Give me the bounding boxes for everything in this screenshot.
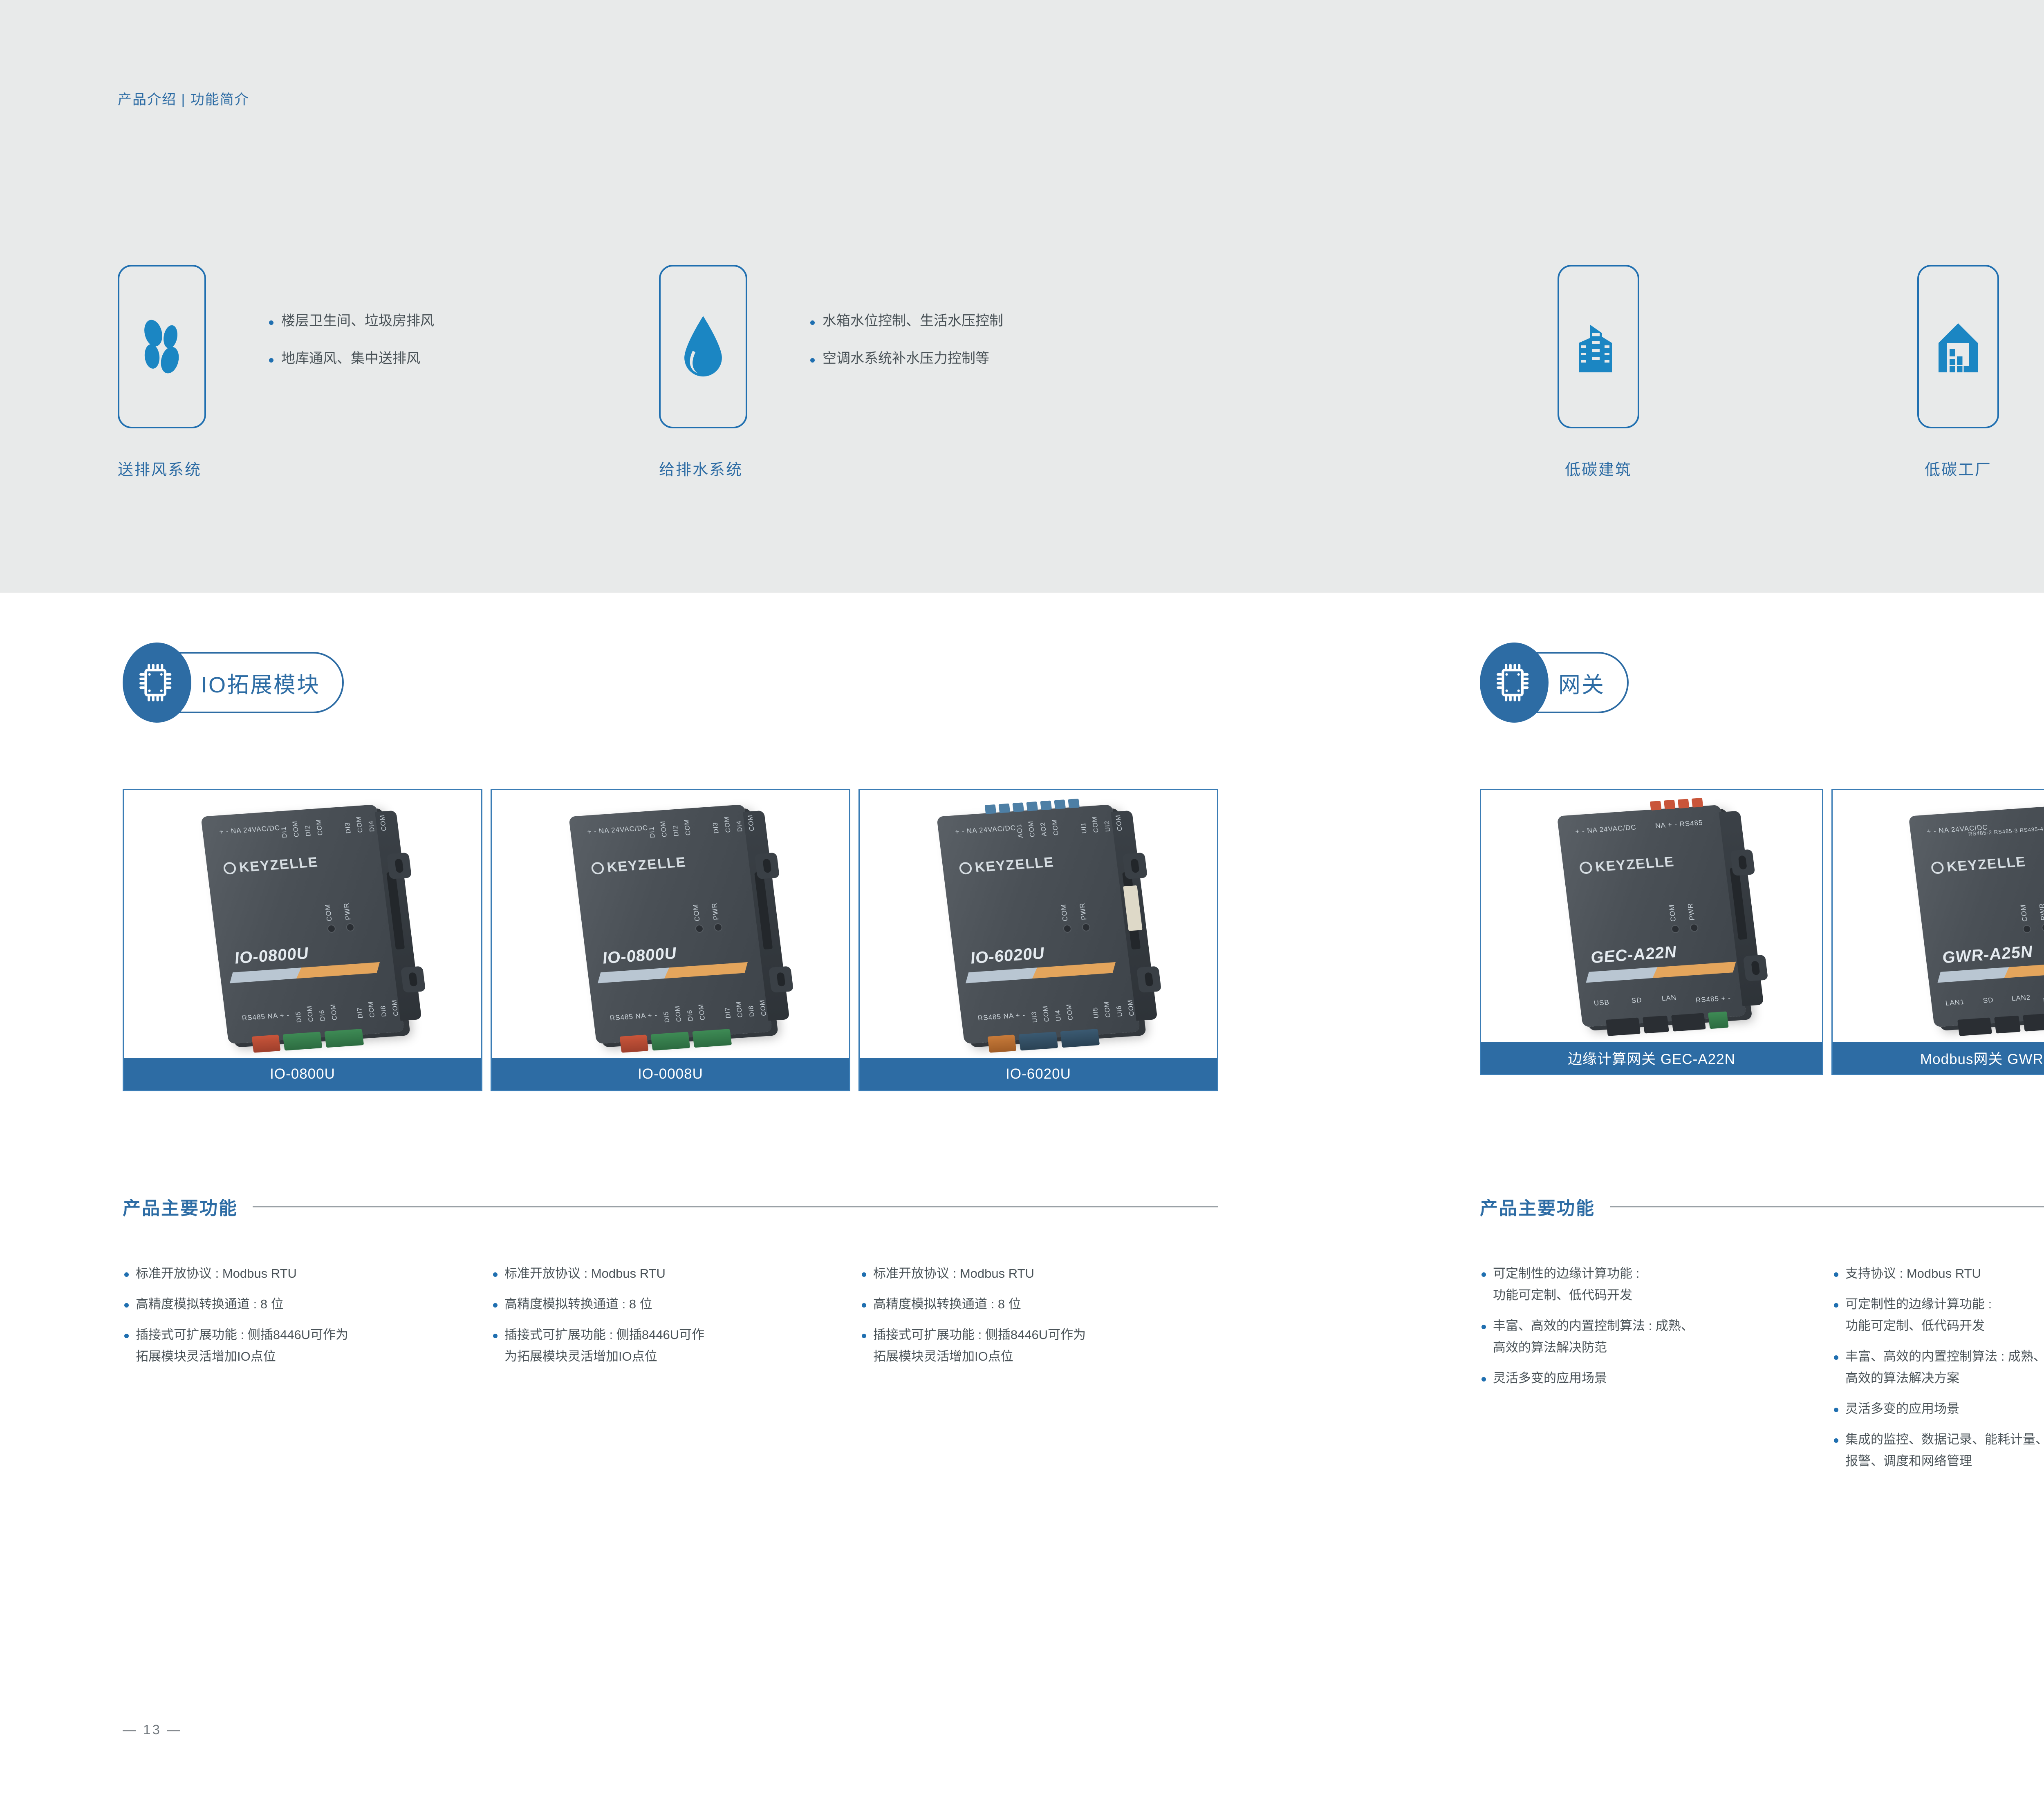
feature-column: 标准开放协议 : Modbus RTU 高精度模拟转换通道 : 8 位 插接式可… [123, 1267, 482, 1381]
port-label-sd: SD [1631, 994, 1643, 1005]
list-item: 地库通风、集中送排风 [267, 352, 434, 365]
list-item: 集成的监控、数据记录、能耗计量、报警、调度和网络管理 [1832, 1433, 2044, 1467]
fan-bullet-list: 楼层卫生间、垃圾房排风 地库通风、集中送排风 [251, 271, 434, 389]
list-item: 高精度模拟转换通道 : 8 位 [860, 1298, 1220, 1310]
list-item: 支持协议 : Modbus RTU [1832, 1267, 2044, 1280]
section-badge-io-modules: IO拓展模块 [123, 642, 344, 723]
fan-icon [131, 314, 193, 379]
page-number-left: — 13 — [123, 1722, 182, 1738]
water-bullet-list: 水箱水位控制、生活水压控制 空调水系统补水压力控制等 [792, 271, 1003, 389]
factory-icon [1932, 316, 1984, 377]
fan-icon-box [118, 265, 206, 428]
list-item: 空调水系统补水压力控制等 [809, 352, 1003, 365]
product-caption: IO-6020U [860, 1058, 1217, 1090]
product-image: KEYZELLE + - NA 24VAC/DC AO1COMAO2COM UI… [860, 790, 1217, 1058]
product-image: KEYZELLE + - NA 24VAC/DC DI1COMDI2COM DI… [124, 790, 481, 1058]
application-factory: 低碳工厂 [1917, 265, 1999, 428]
features-title: 产品主要功能 [123, 1193, 238, 1220]
list-item: 水箱水位控制、生活水压控制 [809, 314, 1003, 328]
list-item: 插接式可扩展功能 : 侧插8446U可作为拓展模块灵活增加IO点位 [860, 1328, 1220, 1363]
brochure-spread: 产品介绍 | 功能简介 产品介绍 | 功能简介 楼层卫生间、垃圾房排风 地库通风… [0, 0, 2044, 1798]
scenario-label-water: 给排水系统 [659, 457, 743, 479]
list-item: 插接式可扩展功能 : 侧插8446U可作为拓展模块灵活增加IO点位 [123, 1328, 482, 1363]
product-card[interactable]: KEYZELLE + - NA 24VAC/DC DI1COMDI2COM DI… [491, 789, 850, 1091]
features-title: 产品主要功能 [1480, 1193, 1595, 1220]
chip-icon [138, 662, 176, 703]
heading-rule [253, 1206, 1218, 1207]
product-caption: Modbus网关 GWR-A25N [1833, 1042, 2044, 1074]
list-item: 标准开放协议 : Modbus RTU [123, 1267, 482, 1280]
chip-icon [1495, 662, 1533, 703]
application-building: 低碳建筑 [1558, 265, 1639, 428]
product-card[interactable]: KEYZELLE + - NA 24VAC/DC AO1COMAO2COM UI… [858, 789, 1218, 1091]
list-item: 灵活多变的应用场景 [1832, 1402, 2044, 1415]
feature-column: 支持协议 : Modbus RTU 可定制性的边缘计算功能 :功能可定制、低代码… [1832, 1267, 2044, 1485]
application-label-building: 低碳建筑 [1565, 457, 1632, 479]
product-card[interactable]: KEYZELLE + - NA 24VAC/DC RS485-2 RS485-3… [1831, 789, 2044, 1075]
factory-icon-box [1917, 265, 1999, 428]
feature-column: 标准开放协议 : Modbus RTU 高精度模拟转换通道 : 8 位 插接式可… [491, 1267, 851, 1381]
device-io-0800u: KEYZELLE + - NA 24VAC/DC DI1COMDI2COM DI… [201, 804, 404, 1044]
product-caption: 边缘计算网关 GEC-A22N [1481, 1042, 1822, 1074]
product-image: KEYZELLE + - NA 24VAC/DC DI1COMDI2COM DI… [492, 790, 849, 1058]
product-caption: IO-0008U [492, 1058, 849, 1090]
features-heading-right: 产品主要功能 [1480, 1193, 2044, 1220]
port-label-sd: SD [1982, 994, 1994, 1005]
running-head-left: 产品介绍 | 功能简介 [118, 88, 249, 108]
port-label-lan1: LAN1 [1945, 996, 1965, 1008]
list-item: 可定制性的边缘计算功能 :功能可定制、低代码开发 [1480, 1267, 1823, 1301]
chip-icon-circle [123, 643, 191, 723]
list-item: 丰富、高效的内置控制算法 : 成熟、高效的算法解决方案 [1832, 1350, 2044, 1384]
feature-columns-left: 标准开放协议 : Modbus RTU 高精度模拟转换通道 : 8 位 插接式可… [123, 1267, 1220, 1381]
section-badge-label: IO拓展模块 [201, 667, 320, 699]
section-badge-gateway: 网关 [1480, 642, 1629, 723]
water-drop-icon-box [659, 265, 747, 428]
product-card[interactable]: KEYZELLE + - NA 24VAC/DC DI1COMDI2COM DI… [123, 789, 482, 1091]
product-image: KEYZELLE + - NA 24VAC/DC RS485-2 RS485-3… [1833, 790, 2044, 1042]
list-item: 标准开放协议 : Modbus RTU [491, 1267, 851, 1280]
port-label-usb: USB [1593, 997, 1610, 1008]
device-io-6020u: KEYZELLE + - NA 24VAC/DC AO1COMAO2COM UI… [937, 804, 1140, 1044]
product-card[interactable]: KEYZELLE + - NA 24VAC/DC NA + - RS485 CO… [1480, 789, 1823, 1075]
water-drop-icon [677, 312, 730, 381]
features-heading-left: 产品主要功能 [123, 1193, 1218, 1220]
section-badge-label: 网关 [1558, 667, 1605, 699]
list-item: 丰富、高效的内置控制算法 : 成熟、高效的算法解决防范 [1480, 1319, 1823, 1354]
io-product-cards: KEYZELLE + - NA 24VAC/DC DI1COMDI2COM DI… [123, 789, 1218, 1091]
feature-column: 可定制性的边缘计算功能 :功能可定制、低代码开发 丰富、高效的内置控制算法 : … [1480, 1267, 1823, 1485]
feature-column: 标准开放协议 : Modbus RTU 高精度模拟转换通道 : 8 位 插接式可… [860, 1267, 1220, 1381]
heading-rule [1610, 1206, 2044, 1207]
application-label-factory: 低碳工厂 [1925, 457, 1992, 479]
scenario-fan: 楼层卫生间、垃圾房排风 地库通风、集中送排风 送排风系统 [118, 265, 434, 428]
device-io-0008u: KEYZELLE + - NA 24VAC/DC DI1COMDI2COM DI… [569, 804, 772, 1044]
list-item: 灵活多变的应用场景 [1480, 1372, 1823, 1384]
list-item: 标准开放协议 : Modbus RTU [860, 1267, 1220, 1280]
chip-icon-circle [1480, 643, 1549, 723]
office-building-icon [1573, 316, 1624, 377]
port-label-lan: LAN [1661, 992, 1677, 1004]
device-gwr-a25n: KEYZELLE + - NA 24VAC/DC RS485-2 RS485-3… [1909, 805, 2044, 1027]
scenario-label-fan: 送排风系统 [118, 457, 202, 479]
status-leds: COM PWR [2022, 923, 2044, 933]
list-item: 高精度模拟转换通道 : 8 位 [491, 1298, 851, 1310]
gateway-product-cards: KEYZELLE + - NA 24VAC/DC NA + - RS485 CO… [1480, 789, 2044, 1075]
feature-columns-right: 可定制性的边缘计算功能 :功能可定制、低代码开发 丰富、高效的内置控制算法 : … [1480, 1267, 2044, 1485]
list-item: 楼层卫生间、垃圾房排风 [267, 314, 434, 328]
product-caption: IO-0800U [124, 1058, 481, 1090]
list-item: 高精度模拟转换通道 : 8 位 [123, 1298, 482, 1310]
product-image: KEYZELLE + - NA 24VAC/DC NA + - RS485 CO… [1481, 790, 1822, 1042]
list-item: 插接式可扩展功能 : 侧插8446U可作为拓展模块灵活增加IO点位 [491, 1328, 851, 1363]
port-label-lan2: LAN2 [2011, 992, 2031, 1004]
scenario-water: 水箱水位控制、生活水压控制 空调水系统补水压力控制等 给排水系统 [659, 265, 1003, 428]
device-gec-a22n: KEYZELLE + - NA 24VAC/DC NA + - RS485 CO… [1557, 805, 1746, 1027]
office-building-icon-box [1558, 265, 1639, 428]
list-item: 可定制性的边缘计算功能 :功能可定制、低代码开发 [1832, 1298, 2044, 1332]
